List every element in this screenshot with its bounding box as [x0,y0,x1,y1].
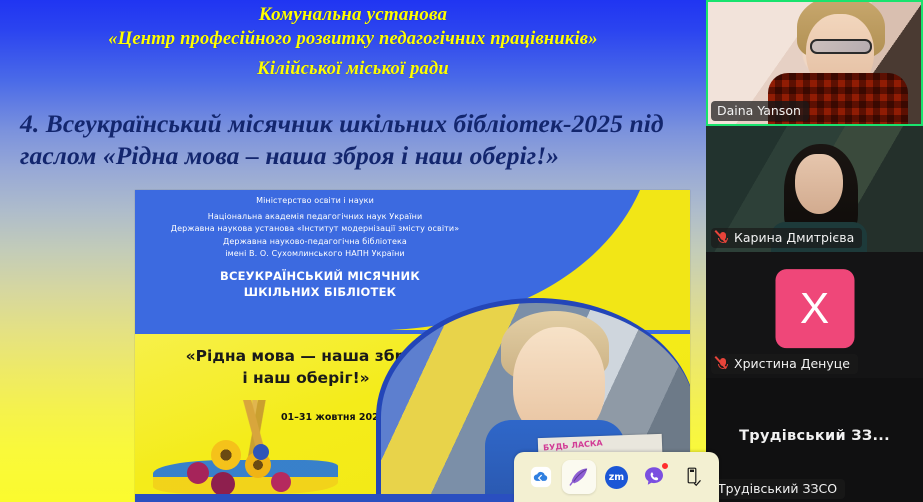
sign-text-top: БУДЬ ЛАСКА [542,438,602,452]
poster-title-line-2: ШКІЛЬНИХ БІБЛІОТЕК [135,284,505,300]
participant-name: Христина Денуце [734,356,850,371]
flower-icon [211,440,241,470]
participant-tile[interactable]: Х Христина Денуце [706,252,923,378]
org-line-5: імені В. О. Сухомлинського НАПН України [135,248,495,261]
participant-name-badge: Христина Денуце [711,354,858,374]
usb-eject-icon[interactable] [675,460,709,494]
participant-name: Карина Дмитрієва [734,230,854,245]
participant-tile[interactable]: Карина Дмитрієва [706,126,923,252]
flower-icon [187,462,209,484]
org-line-3: Державна наукова установа «Інститут моде… [135,223,495,236]
glasses-icon [810,39,872,54]
flower-icon [271,472,291,492]
flower-icon [253,444,269,460]
participant-name-badge: Трудівський ЗЗСО [712,479,845,499]
participant-name-badge: Карина Дмитрієва [711,228,862,248]
slide-body-text: 4. Всеукраїнський місячник шкільних бібл… [20,108,680,172]
viber-icon[interactable] [637,460,671,494]
mic-muted-icon [717,231,729,245]
participant-name-badge: Daina Yanson [711,101,809,121]
shared-screen-area[interactable]: Комунальна установа «Центр професійного … [0,0,706,502]
cloud-icon[interactable] [524,460,558,494]
poster-bouquet [153,392,338,500]
participant-display-name: Трудівський ЗЗ... [706,428,923,444]
mic-muted-icon [717,357,729,371]
participant-tile[interactable]: Daina Yanson [706,0,923,126]
taskbar-dock[interactable]: zm [514,452,719,502]
flower-icon [211,472,235,496]
poster-title-line-1: ВСЕУКРАЇНСЬКИЙ МІСЯЧНИК [135,268,505,284]
zoom-icon[interactable]: zm [599,460,633,494]
feather-icon[interactable] [562,460,596,494]
participant-filmstrip[interactable]: Daina Yanson Карина Дмитрієва Х Христина… [706,0,923,502]
face-shape [795,154,843,214]
participant-name: Трудівський ЗЗСО [718,481,837,496]
org-line-4: Державна науково-педагогічна бібліотека [135,236,495,249]
poster-organizations: Міністерство освіти і науки Національна … [135,195,495,261]
participant-name: Daina Yanson [717,103,801,118]
org-line-1: Міністерство освіти і науки [135,195,495,208]
org-line-2: Національна академія педагогічних наук У… [135,211,495,224]
presentation-header: Комунальна установа «Центр професійного … [0,0,706,82]
participant-tile[interactable]: Трудівський ЗЗ... Трудівський ЗЗСО [706,378,923,502]
notification-badge [661,462,669,470]
zoom-logo-label: zm [605,466,628,489]
header-line-2: «Центр професійного розвитку педагогічни… [0,27,706,52]
header-line-3: Кілійської міської ради [0,57,706,82]
header-line-1: Комунальна установа [0,2,706,27]
poster-title: ВСЕУКРАЇНСЬКИЙ МІСЯЧНИК ШКІЛЬНИХ БІБЛІОТ… [135,268,505,300]
avatar: Х [775,269,854,348]
